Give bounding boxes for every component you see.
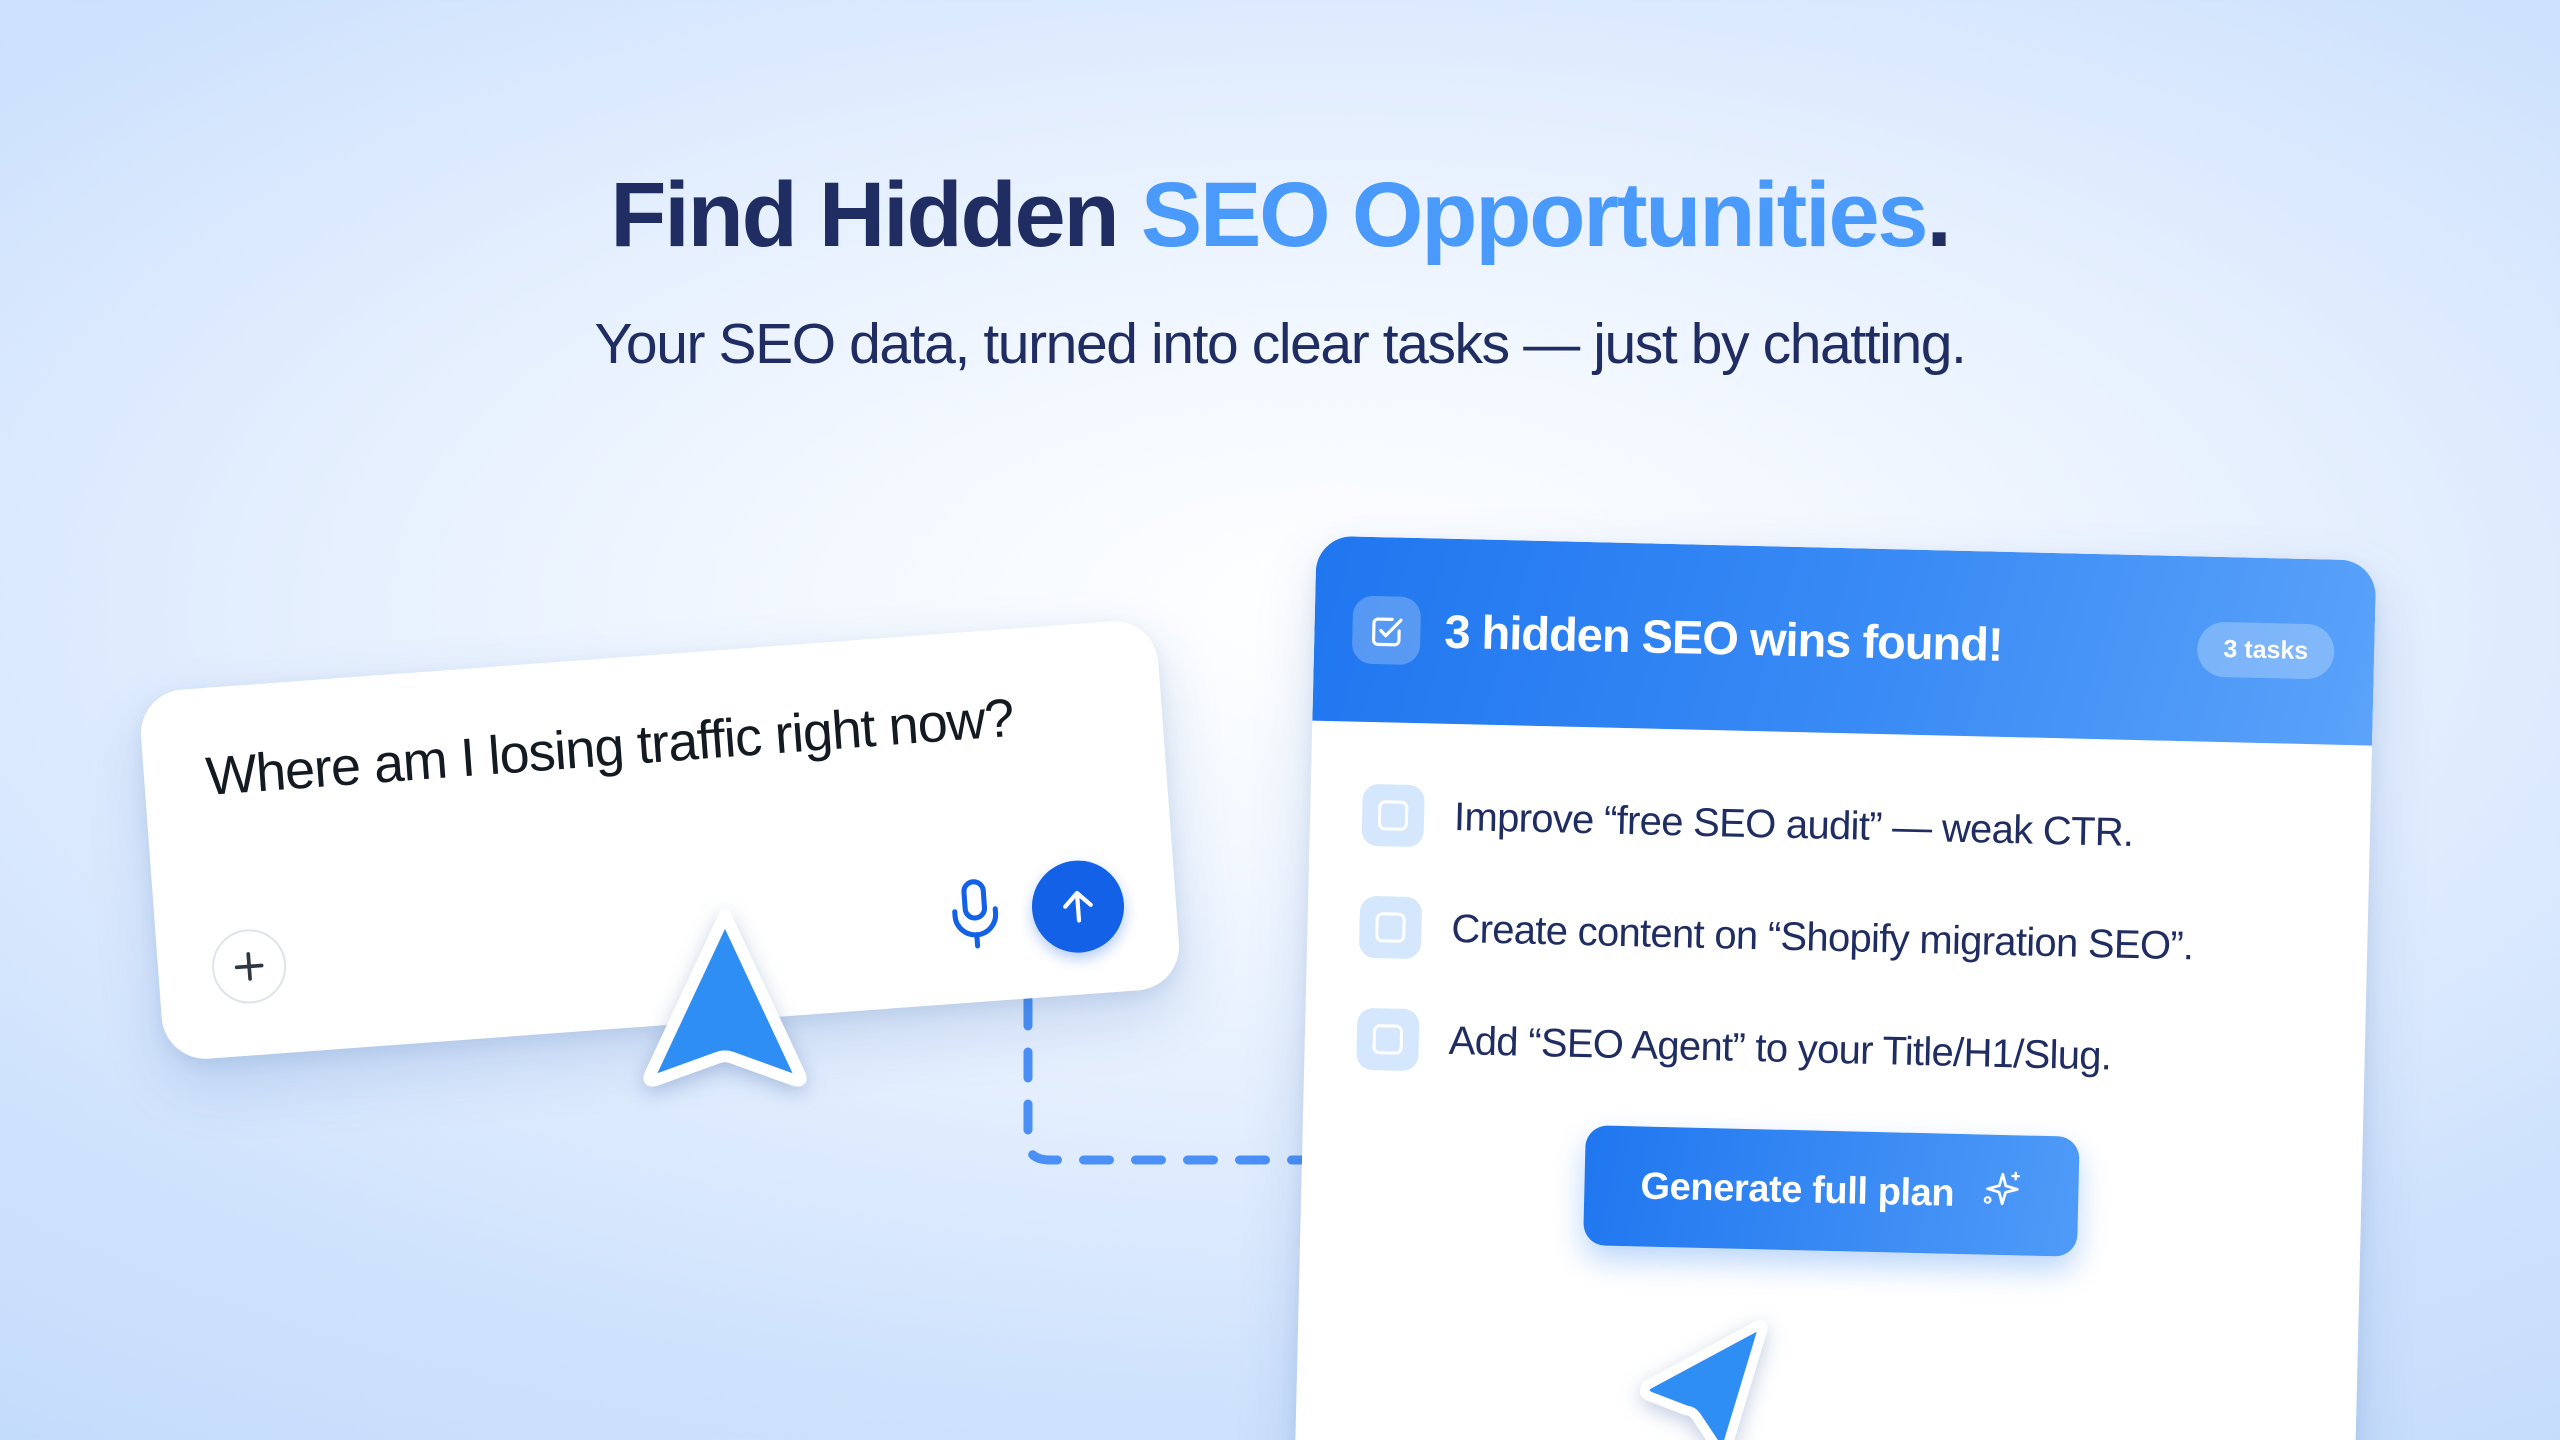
sparkle-icon — [1980, 1168, 2023, 1221]
task-label: Create content on “Shopify migration SEO… — [1451, 906, 2194, 968]
list-item[interactable]: Add “SEO Agent” to your Title/H1/Slug. — [1356, 1008, 2313, 1093]
seo-results-card: 3 hidden SEO wins found! 3 tasks Improve… — [1294, 536, 2377, 1440]
task-checkbox[interactable] — [1361, 784, 1424, 847]
task-checkbox[interactable] — [1356, 1008, 1419, 1071]
page-subtitle: Your SEO data, turned into clear tasks —… — [0, 310, 2560, 378]
results-card-header: 3 hidden SEO wins found! 3 tasks — [1312, 536, 2376, 746]
task-checkbox[interactable] — [1359, 896, 1422, 959]
headline-part-one: Find Hidden — [610, 164, 1141, 266]
headline-accent: SEO Opportunities — [1141, 164, 1927, 266]
hero-stage: Find Hidden SEO Opportunities. Your SEO … — [0, 0, 2560, 1440]
arrow-up-icon[interactable] — [1029, 857, 1127, 955]
results-card-title: 3 hidden SEO wins found! — [1444, 604, 2003, 672]
checkbox-check-icon — [1352, 595, 1422, 665]
cta-row: Generate full plan — [1352, 1120, 2311, 1262]
headline-period: . — [1926, 164, 1949, 266]
chat-message-text: Where am I losing traffic right now? — [204, 680, 1104, 808]
task-list: Improve “free SEO audit” — weak CTR. Cre… — [1300, 721, 2372, 1264]
task-label: Improve “free SEO audit” — weak CTR. — [1454, 794, 2134, 855]
list-item[interactable]: Create content on “Shopify migration SEO… — [1359, 896, 2316, 981]
generate-full-plan-label: Generate full plan — [1640, 1165, 1955, 1215]
microphone-icon[interactable] — [941, 869, 1009, 959]
plus-icon[interactable] — [210, 927, 289, 1006]
generate-full-plan-button[interactable]: Generate full plan — [1583, 1125, 2079, 1257]
chat-action-group — [941, 857, 1127, 962]
task-label: Add “SEO Agent” to your Title/H1/Slug. — [1448, 1018, 2112, 1079]
chat-input-card[interactable]: Where am I losing traffic right now? — [138, 618, 1182, 1062]
page-title: Find Hidden SEO Opportunities. — [0, 168, 2560, 264]
list-item[interactable]: Improve “free SEO audit” — weak CTR. — [1361, 784, 2318, 869]
status-badge: 3 tasks — [2197, 621, 2335, 679]
